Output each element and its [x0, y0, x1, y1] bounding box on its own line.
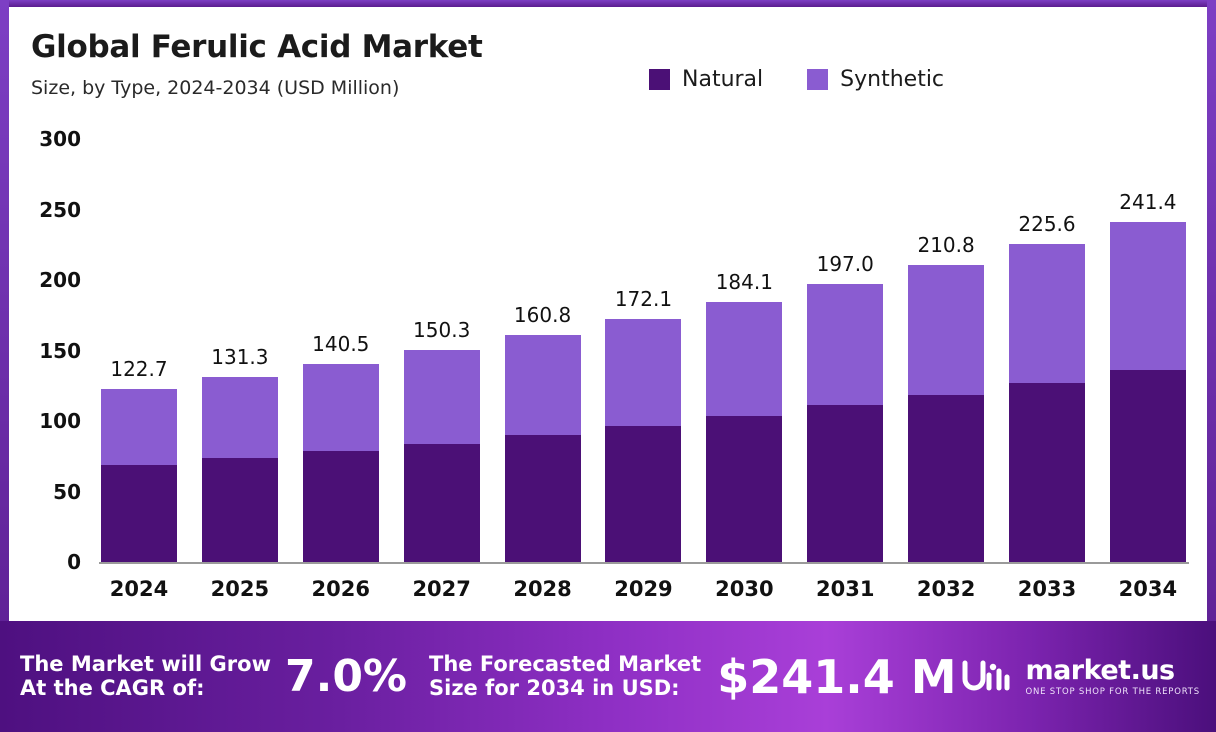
legend-item-synthetic[interactable]: Synthetic — [807, 67, 944, 92]
bar-total-label: 210.8 — [886, 233, 1006, 257]
chart-screenshot: Global Ferulic Acid Market Size, by Type… — [0, 0, 1216, 732]
bar-group[interactable]: 131.3 — [202, 139, 278, 562]
x-tick-label: 2028 — [505, 577, 581, 601]
bar-segment-natural[interactable] — [908, 395, 984, 562]
y-tick-label: 100 — [39, 409, 81, 433]
y-axis: 050100150200250300 — [9, 139, 91, 563]
bar-group[interactable]: 122.7 — [101, 139, 177, 562]
bar-group[interactable]: 241.4 — [1110, 139, 1186, 562]
bar-segment-natural[interactable] — [101, 465, 177, 562]
x-tick-label: 2024 — [101, 577, 177, 601]
forecast-caption: The Forecasted Market Size for 2034 in U… — [429, 653, 701, 700]
bar-stack[interactable] — [202, 377, 278, 562]
legend-label-synthetic: Synthetic — [840, 67, 944, 92]
chart-subtitle: Size, by Type, 2024-2034 (USD Million) — [31, 77, 399, 99]
bar-segment-synthetic[interactable] — [1009, 244, 1085, 383]
bar-group[interactable]: 140.5 — [303, 139, 379, 562]
bar-total-label: 241.4 — [1088, 190, 1208, 214]
x-tick-label: 2029 — [605, 577, 681, 601]
bar-segment-natural[interactable] — [505, 435, 581, 562]
bar-total-label: 225.6 — [987, 212, 1107, 236]
bar-stack[interactable] — [807, 284, 883, 562]
bar-group[interactable]: 172.1 — [605, 139, 681, 562]
brand-tagline: ONE STOP SHOP FOR THE REPORTS — [1025, 688, 1200, 697]
bar-segment-synthetic[interactable] — [505, 335, 581, 435]
frame-border-top — [0, 0, 1216, 7]
bar-segment-synthetic[interactable] — [706, 302, 782, 416]
bar-series-container: 122.7131.3140.5150.3160.8172.1184.1197.0… — [101, 139, 1186, 562]
bar-segment-natural[interactable] — [605, 426, 681, 562]
bar-segment-synthetic[interactable] — [908, 265, 984, 395]
bar-segment-synthetic[interactable] — [303, 364, 379, 451]
bar-segment-natural[interactable] — [1110, 370, 1186, 562]
brand-name: market.us — [1025, 657, 1200, 684]
chart-canvas: Global Ferulic Acid Market Size, by Type… — [9, 7, 1207, 621]
y-tick-label: 250 — [39, 198, 81, 222]
brand-logo[interactable]: market.us ONE STOP SHOP FOR THE REPORTS — [957, 657, 1200, 697]
bar-group[interactable]: 225.6 — [1009, 139, 1085, 562]
y-tick-label: 300 — [39, 127, 81, 151]
chart-legend: NaturalSynthetic — [649, 67, 944, 92]
x-tick-label: 2026 — [303, 577, 379, 601]
bar-group[interactable]: 184.1 — [706, 139, 782, 562]
legend-swatch-synthetic — [807, 69, 828, 90]
bar-stack[interactable] — [101, 389, 177, 562]
x-tick-label: 2033 — [1009, 577, 1085, 601]
legend-label-natural: Natural — [682, 67, 763, 92]
y-tick-label: 0 — [67, 550, 81, 574]
bar-segment-natural[interactable] — [706, 416, 782, 562]
forecast-caption-line2: Size for 2034 in USD: — [429, 677, 701, 701]
bar-segment-synthetic[interactable] — [1110, 222, 1186, 371]
x-tick-label: 2031 — [807, 577, 883, 601]
bar-stack[interactable] — [404, 350, 480, 562]
forecast-value: $241.4 M — [717, 650, 956, 704]
bar-segment-synthetic[interactable] — [101, 389, 177, 465]
cagr-value: 7.0% — [285, 651, 407, 702]
bar-stack[interactable] — [505, 335, 581, 562]
bar-stack[interactable] — [1110, 222, 1186, 562]
legend-swatch-natural — [649, 69, 670, 90]
legend-item-natural[interactable]: Natural — [649, 67, 763, 92]
x-tick-label: 2032 — [908, 577, 984, 601]
footer-banner: The Market will Grow At the CAGR of: 7.0… — [0, 621, 1216, 732]
bar-group[interactable]: 160.8 — [505, 139, 581, 562]
bar-segment-natural[interactable] — [1009, 383, 1085, 562]
cagr-caption-line2: At the CAGR of: — [20, 677, 271, 701]
bar-segment-synthetic[interactable] — [807, 284, 883, 405]
x-tick-label: 2027 — [404, 577, 480, 601]
forecast-caption-line1: The Forecasted Market — [429, 653, 701, 677]
market-us-mark-icon — [957, 657, 1013, 697]
bar-segment-natural[interactable] — [303, 451, 379, 562]
chart-title: Global Ferulic Acid Market — [31, 29, 482, 65]
bar-segment-natural[interactable] — [202, 458, 278, 562]
bar-segment-synthetic[interactable] — [404, 350, 480, 443]
bar-stack[interactable] — [706, 302, 782, 562]
bar-group[interactable]: 197.0 — [807, 139, 883, 562]
y-tick-label: 50 — [53, 480, 81, 504]
bar-segment-natural[interactable] — [404, 444, 480, 562]
bar-group[interactable]: 210.8 — [908, 139, 984, 562]
bar-segment-synthetic[interactable] — [202, 377, 278, 458]
bar-stack[interactable] — [303, 364, 379, 562]
x-tick-label: 2034 — [1110, 577, 1186, 601]
bar-stack[interactable] — [605, 319, 681, 562]
brand-text: market.us ONE STOP SHOP FOR THE REPORTS — [1025, 657, 1200, 697]
bar-stack[interactable] — [908, 265, 984, 562]
y-tick-label: 150 — [39, 339, 81, 363]
x-axis-line — [99, 562, 1189, 564]
x-axis-labels: 2024202520262027202820292030203120322033… — [101, 577, 1186, 601]
cagr-caption: The Market will Grow At the CAGR of: — [20, 653, 271, 700]
y-tick-label: 200 — [39, 268, 81, 292]
x-tick-label: 2025 — [202, 577, 278, 601]
x-tick-label: 2030 — [706, 577, 782, 601]
bar-segment-natural[interactable] — [807, 405, 883, 562]
bar-stack[interactable] — [1009, 244, 1085, 562]
bar-group[interactable]: 150.3 — [404, 139, 480, 562]
cagr-caption-line1: The Market will Grow — [20, 653, 271, 677]
bar-segment-synthetic[interactable] — [605, 319, 681, 426]
